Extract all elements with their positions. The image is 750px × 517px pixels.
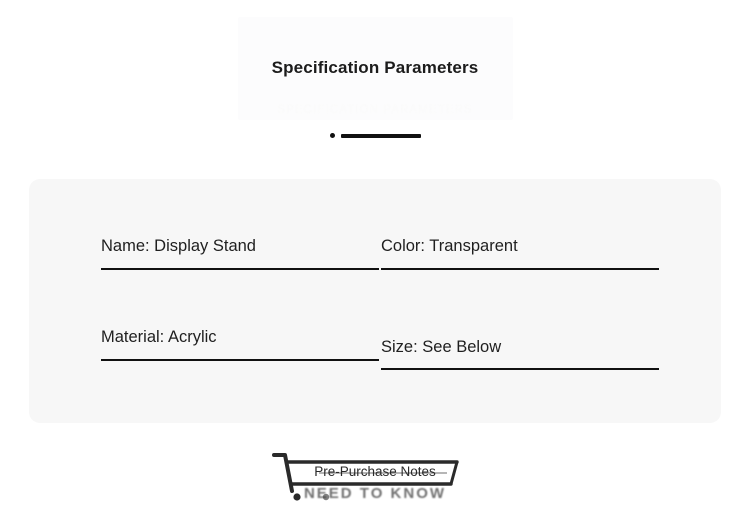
spec-cell-color: Color: Transparent [381, 237, 659, 270]
specification-card: Name: Display Stand Color: Transparent M… [29, 179, 721, 423]
spec-rule-name [101, 268, 379, 270]
title-decoration [0, 133, 750, 138]
spec-value-name: Name: Display Stand [101, 237, 379, 256]
specification-grid: Name: Display Stand Color: Transparent M… [101, 179, 659, 423]
need-to-know-label: NEED TO KNOW [0, 485, 750, 502]
spec-cell-size: Size: See Below [381, 338, 659, 370]
decoration-bar-icon [341, 134, 421, 138]
spec-value-size: Size: See Below [381, 338, 659, 357]
pre-purchase-notes-section: Pre-Purchase Notes NEED TO KNOW [0, 440, 750, 517]
spec-value-material: Material: Acrylic [101, 328, 379, 347]
pre-purchase-notes-label: Pre-Purchase Notes [0, 464, 750, 479]
spec-rule-color [381, 268, 659, 270]
page-subtitle-ghost: SPECIFICATION PARAMETERS [0, 104, 750, 116]
header-section: Specification Parameters SPECIFICATION P… [0, 0, 750, 165]
spec-cell-material: Material: Acrylic [101, 328, 379, 361]
decoration-dot-icon [330, 133, 335, 138]
spec-rule-size [381, 368, 659, 370]
spec-rule-material [101, 359, 379, 361]
page-title: Specification Parameters [0, 58, 750, 78]
spec-cell-name: Name: Display Stand [101, 237, 379, 270]
spec-value-color: Color: Transparent [381, 237, 659, 256]
